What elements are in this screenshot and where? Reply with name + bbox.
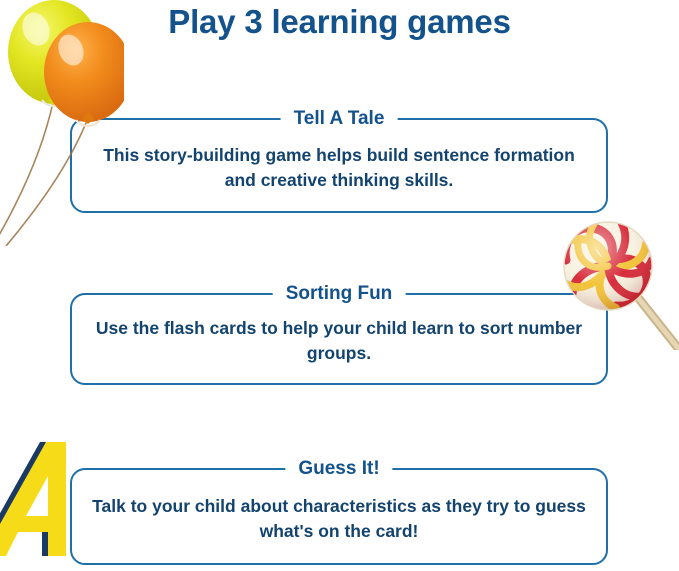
game-card-description: Talk to your child about characteristics… xyxy=(72,494,606,544)
game-card-legend: Tell A Tale xyxy=(281,108,398,130)
game-card-guess-it: Guess It! Talk to your child about chara… xyxy=(70,468,608,565)
page-title: Play 3 learning games xyxy=(0,2,679,42)
game-card-description: Use the flash cards to help your child l… xyxy=(72,316,606,366)
promo-panel: Play 3 learning games Tell A Tale This s… xyxy=(0,0,679,571)
game-card-tell-a-tale: Tell A Tale This story-building game hel… xyxy=(70,118,608,213)
game-card-legend: Sorting Fun xyxy=(273,283,406,305)
game-card-legend: Guess It! xyxy=(285,458,392,480)
game-card-sorting-fun: Sorting Fun Use the flash cards to help … xyxy=(70,293,608,385)
game-card-description: This story-building game helps build sen… xyxy=(72,143,606,193)
